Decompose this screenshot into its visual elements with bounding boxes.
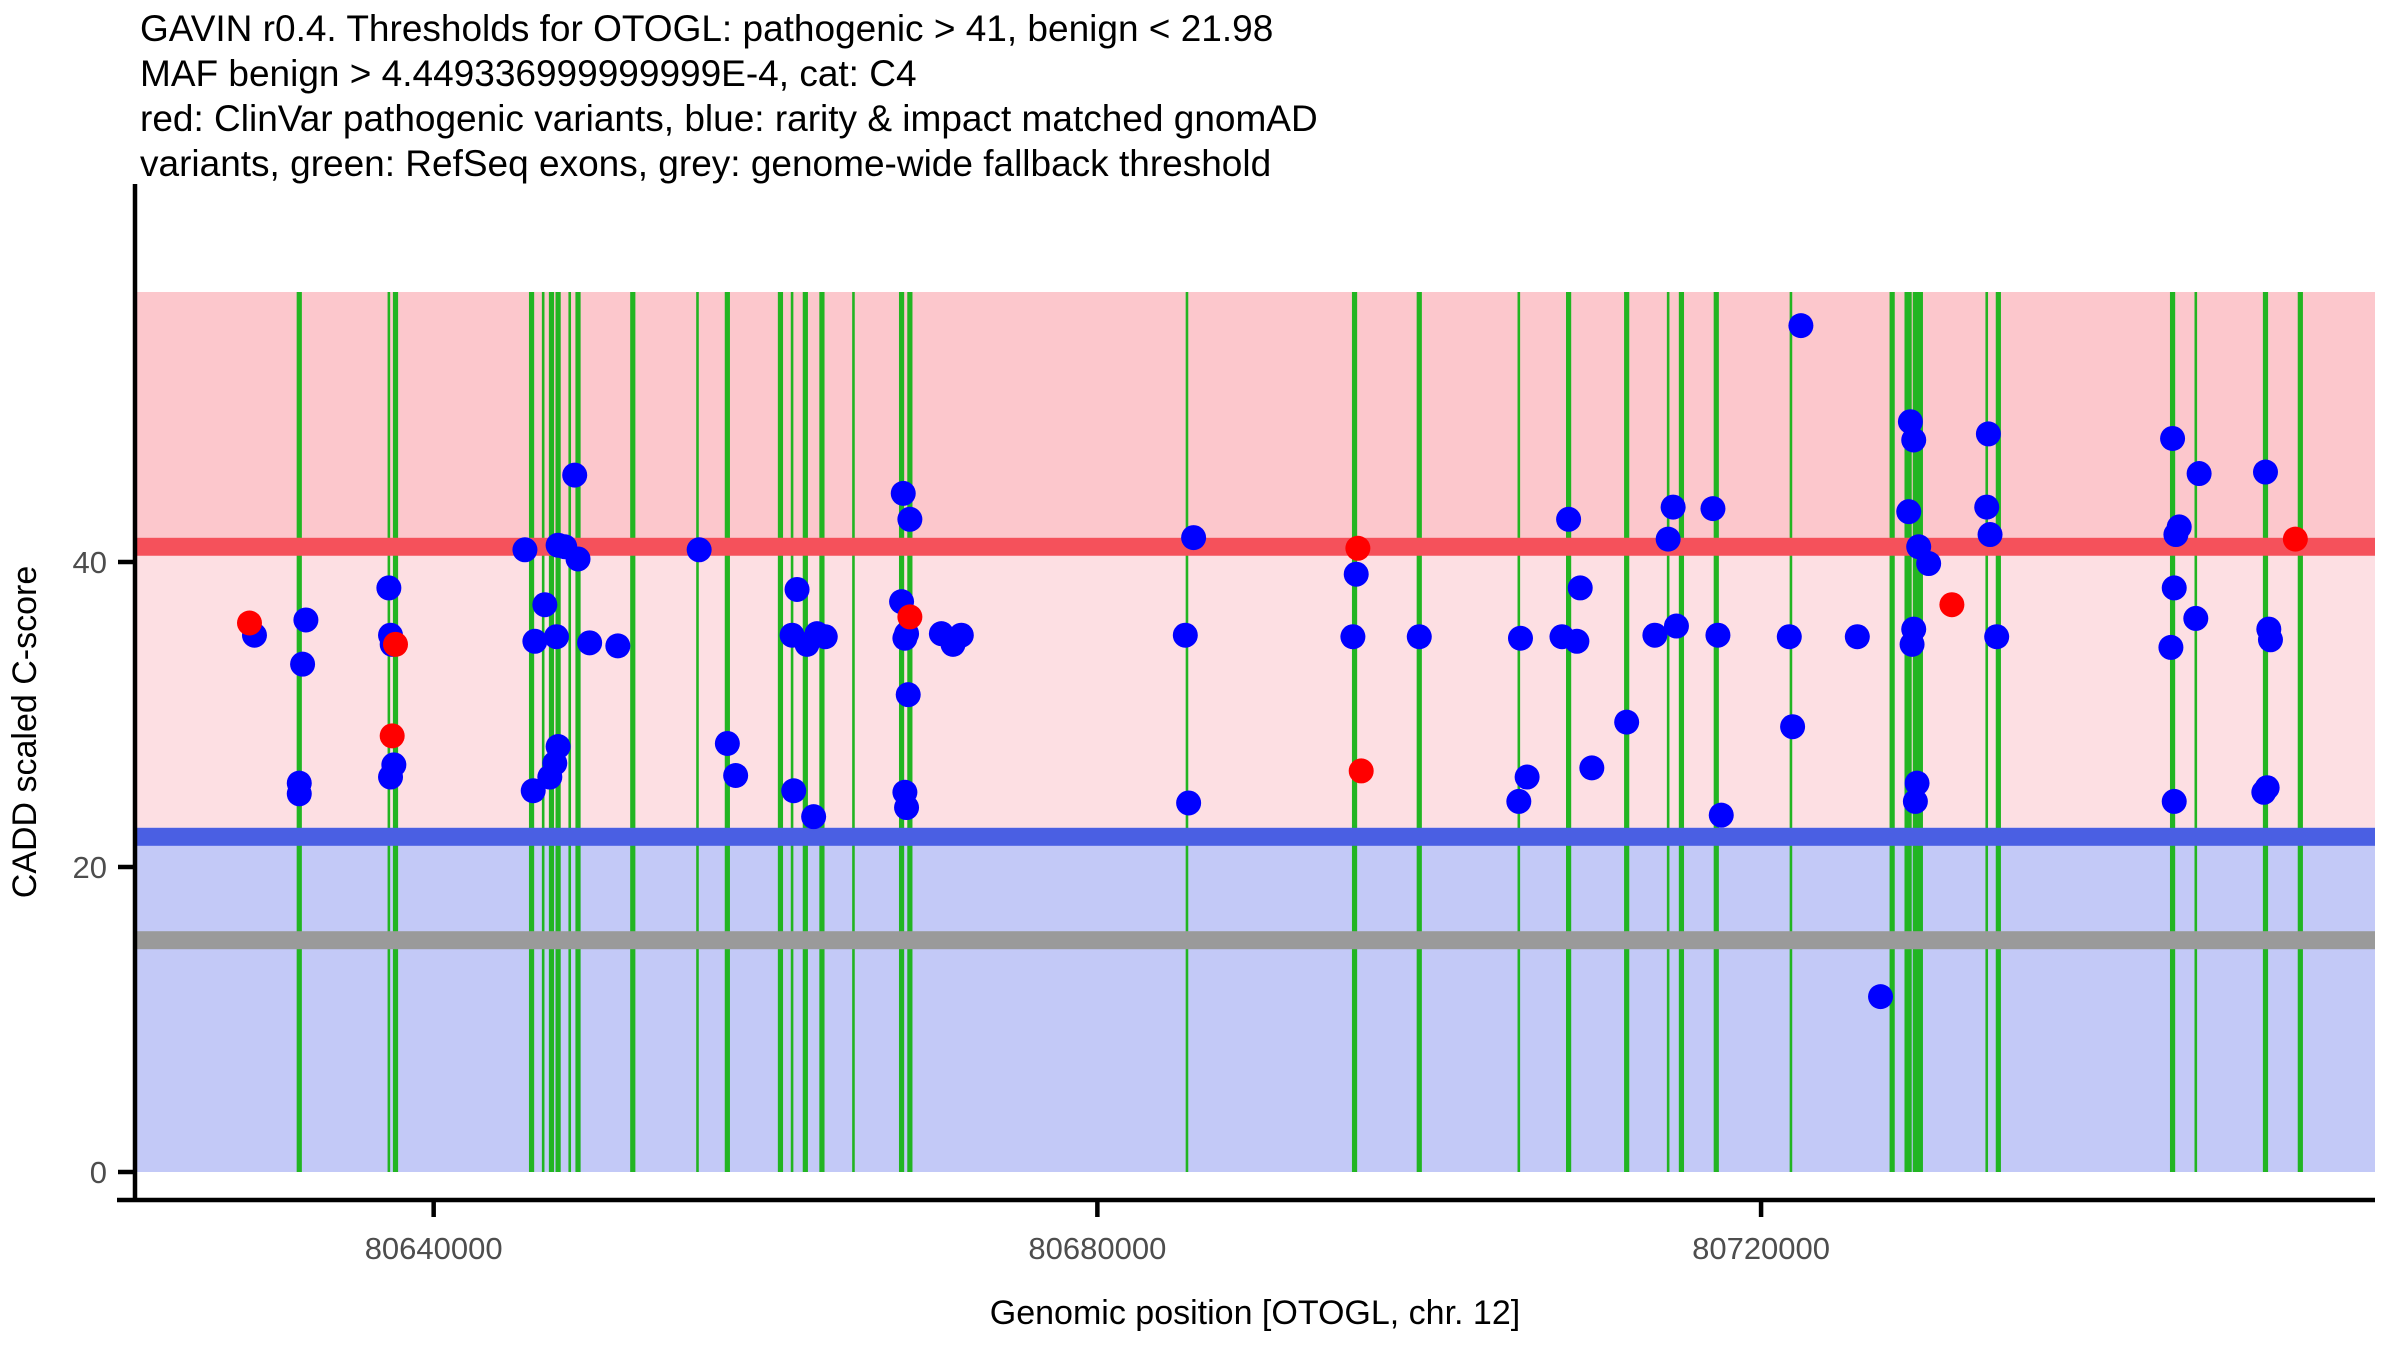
gnomad-variant-point: [287, 781, 312, 806]
y-tick-label: 20: [73, 850, 107, 885]
gnomad-variant-point: [1344, 562, 1369, 587]
pathogenic-variant-point: [380, 723, 405, 748]
gnomad-variant-point: [715, 731, 740, 756]
gnomad-variant-point: [1614, 710, 1639, 735]
gnomad-variant-point: [512, 537, 537, 562]
gnomad-variant-point: [2162, 789, 2187, 814]
gnomad-variant-point: [1700, 496, 1725, 521]
gnomad-variant-point: [723, 763, 748, 788]
gnomad-variant-point: [1407, 624, 1432, 649]
gnomad-variant-point: [1506, 789, 1531, 814]
gnomad-variant-point: [1903, 789, 1928, 814]
pathogenic-variant-point: [237, 611, 262, 636]
gnomad-variant-point: [577, 630, 602, 655]
gnomad-variant-point: [1564, 629, 1589, 654]
gnomad-variant-point: [1901, 428, 1926, 453]
gnomad-variant-point: [785, 577, 810, 602]
benign-threshold-line: [135, 828, 2375, 846]
band-below-benign: [135, 828, 2375, 1172]
gnomad-variant-point: [1556, 507, 1581, 532]
pathogenic-variant-point: [2283, 527, 2308, 552]
band-mid-pink: [135, 538, 2375, 828]
gnomad-variant-point: [2187, 461, 2212, 486]
pathogenic-variant-point: [1345, 536, 1370, 561]
gnomad-variant-point: [1664, 614, 1689, 639]
gnomad-variant-point: [781, 778, 806, 803]
gnomad-variant-point: [605, 633, 630, 658]
gnomad-variant-point: [293, 607, 318, 632]
gnomad-variant-point: [1916, 551, 1941, 576]
chart-canvas: 02040806400008068000080720000Genomic pos…: [0, 0, 2400, 1350]
gnomad-variant-point: [1984, 624, 2009, 649]
gnomad-variant-point: [2183, 606, 2208, 631]
x-tick-label: 80720000: [1692, 1231, 1830, 1266]
gnomad-variant-point: [566, 546, 591, 571]
gnomad-variant-point: [1868, 984, 1893, 1009]
gnomad-variant-point: [1515, 765, 1540, 790]
gnomad-variant-point: [1181, 525, 1206, 550]
pathogenic-threshold-line: [135, 538, 2375, 556]
gnomad-variant-point: [2163, 522, 2188, 547]
gnomad-variant-point: [1976, 421, 2001, 446]
gnomad-variant-point: [894, 795, 919, 820]
gnomad-variant-point: [795, 632, 820, 657]
gnomad-variant-point: [1777, 624, 1802, 649]
x-tick-label: 80680000: [1028, 1231, 1166, 1266]
gnomad-variant-point: [1845, 624, 1870, 649]
x-tick-label: 80640000: [365, 1231, 503, 1266]
gnomad-variant-point: [1705, 623, 1730, 648]
gnomad-variant-point: [941, 632, 966, 657]
gnomad-variant-point: [896, 682, 921, 707]
gnomad-variant-point: [544, 624, 569, 649]
gnomad-variant-point: [892, 626, 917, 651]
pathogenic-variant-point: [1939, 592, 1964, 617]
gnomad-variant-point: [897, 507, 922, 532]
threshold-bands-group: [135, 292, 2375, 1172]
gnomad-variant-point: [2253, 460, 2278, 485]
pathogenic-variant-point: [897, 604, 922, 629]
gnomad-variant-point: [2160, 426, 2185, 451]
gnomad-variant-point: [290, 652, 315, 677]
gnomad-variant-point: [801, 804, 826, 829]
gavin-cadd-scatter-plot: GAVIN r0.4. Thresholds for OTOGL: pathog…: [0, 0, 2400, 1350]
gnomad-variant-point: [1788, 313, 1813, 338]
gnomad-variant-point: [1978, 522, 2003, 547]
gnomad-variant-point: [687, 537, 712, 562]
y-axis-title: CADD scaled C-score: [6, 566, 44, 899]
gnomad-variant-point: [2158, 635, 2183, 660]
gnomad-variant-point: [522, 629, 547, 654]
gnomad-variant-point: [1661, 495, 1686, 520]
gnomad-variant-point: [532, 592, 557, 617]
pathogenic-variant-point: [383, 632, 408, 657]
y-tick-label: 0: [90, 1155, 107, 1190]
pathogenic-variant-point: [1349, 758, 1374, 783]
gnomad-variant-point: [1340, 624, 1365, 649]
gnomad-variant-point: [1780, 714, 1805, 739]
gnomad-variant-point: [1508, 626, 1533, 651]
gnomad-variant-point: [1656, 527, 1681, 552]
gnomad-variant-point: [376, 575, 401, 600]
gnomad-variant-point: [1173, 623, 1198, 648]
gnomad-variant-point: [378, 765, 403, 790]
y-tick-label: 40: [73, 545, 107, 580]
x-axis-title: Genomic position [OTOGL, chr. 12]: [990, 1294, 1520, 1332]
gnomad-variant-point: [891, 481, 916, 506]
gnomad-variant-point: [1568, 575, 1593, 600]
fallback-threshold-line: [135, 931, 2375, 949]
gnomad-variant-point: [2162, 575, 2187, 600]
gnomad-variant-point: [1642, 623, 1667, 648]
gnomad-variant-point: [1709, 803, 1734, 828]
gnomad-variant-point: [1900, 632, 1925, 657]
gnomad-variant-point: [2258, 627, 2283, 652]
gnomad-variant-point: [1974, 495, 1999, 520]
gnomad-variant-point: [537, 765, 562, 790]
gnomad-variant-point: [1896, 499, 1921, 524]
gnomad-variant-point: [1579, 755, 1604, 780]
band-above-pathogenic: [135, 292, 2375, 538]
gnomad-variant-point: [2251, 780, 2276, 805]
gnomad-variant-point: [562, 463, 587, 488]
gnomad-variant-point: [546, 734, 571, 759]
gnomad-variant-point: [1176, 790, 1201, 815]
